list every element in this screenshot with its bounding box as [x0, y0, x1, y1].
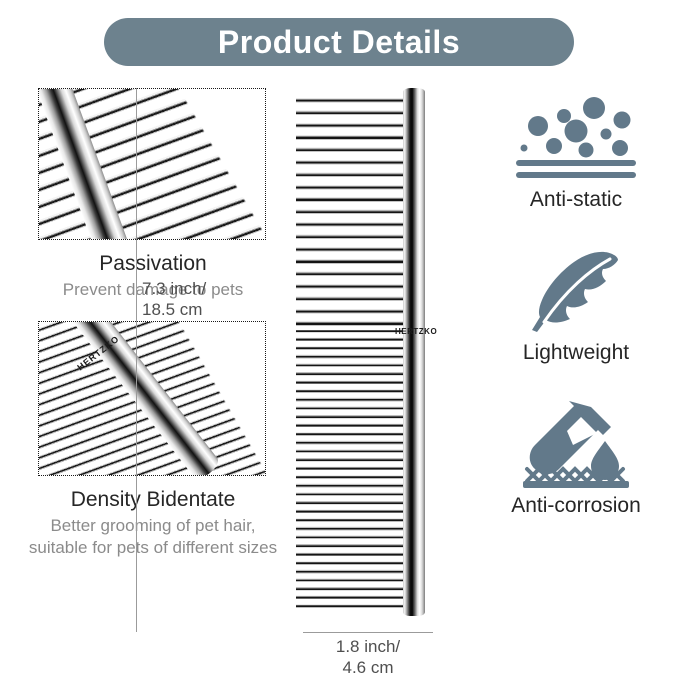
width-value-cm: 4.6 cm [303, 657, 433, 678]
passivation-photo [38, 88, 266, 240]
product-details-infographic: Product Details Passivation Prevent dama… [0, 0, 679, 679]
anti-static-label: Anti-static [478, 188, 674, 211]
anti-static-icon [478, 92, 674, 186]
feather-lightweight-icon [478, 245, 674, 339]
left-feature-column: Passivation Prevent damage to pets HERTZ… [22, 88, 284, 559]
page-title-banner: Product Details [104, 18, 574, 66]
feature-anti-corrosion: Anti-corrosion [478, 398, 674, 517]
product-image-area: HERTZKO [296, 88, 436, 616]
right-feature-column: Anti-static Lightweight [478, 92, 674, 517]
feature-lightweight: Lightweight [478, 245, 674, 364]
grooming-comb-image: HERTZKO [296, 88, 436, 616]
density-caption: Density Bidentate Better grooming of pet… [22, 488, 284, 559]
density-photo: HERTZKO [38, 321, 266, 476]
comb-spine [403, 88, 425, 616]
teeth-taper-mask [175, 88, 266, 240]
length-dimension-label: 7.3 inch/ 18.5 cm [142, 278, 206, 321]
comb-wide-teeth [296, 94, 404, 330]
left-panel-density: HERTZKO Density Bidentate Better groomin… [22, 321, 284, 559]
anti-corrosion-label: Anti-corrosion [478, 494, 674, 517]
length-value-inch: 7.3 inch/ [142, 278, 206, 299]
width-value-inch: 1.8 inch/ [303, 636, 433, 657]
length-value-cm: 18.5 cm [142, 299, 206, 320]
anti-corrosion-icon [478, 398, 674, 492]
length-dimension-line [136, 88, 137, 632]
feature-anti-static: Anti-static [478, 92, 674, 211]
density-title: Density Bidentate [22, 488, 284, 512]
width-dimension-label: 1.8 inch/ 4.6 cm [303, 636, 433, 679]
passivation-title: Passivation [22, 252, 284, 276]
width-dimension-line [303, 632, 433, 633]
page-title: Product Details [218, 26, 460, 58]
product-brand-text: HERTZKO [395, 326, 409, 338]
lightweight-label: Lightweight [478, 341, 674, 364]
density-description: Better grooming of pet hair, suitable fo… [22, 515, 284, 559]
product-brand-mark: HERTZKO [395, 326, 409, 338]
left-panel-passivation: Passivation Prevent damage to pets [22, 88, 284, 301]
